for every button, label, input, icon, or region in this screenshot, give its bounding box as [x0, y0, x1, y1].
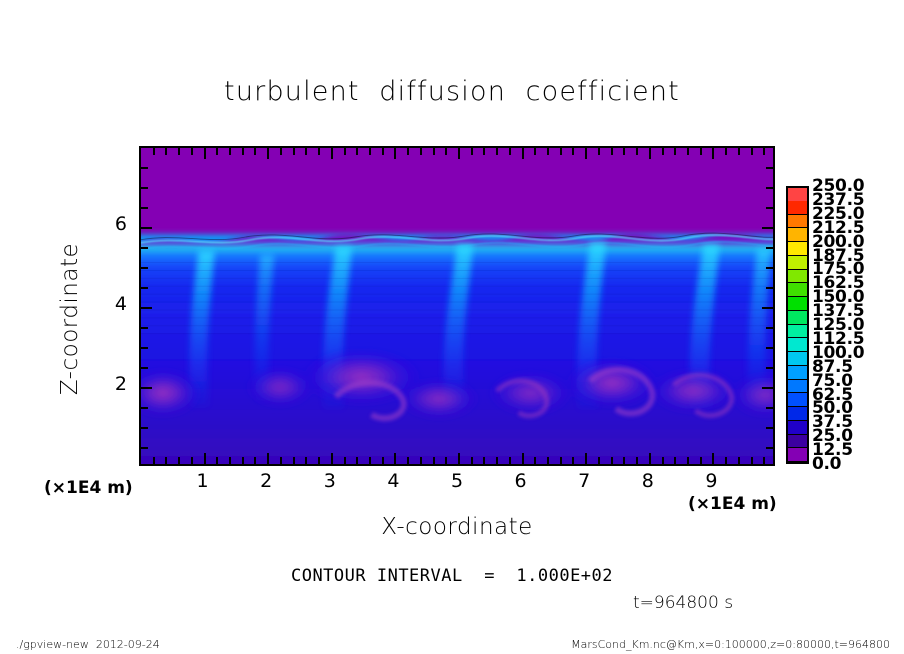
axis-tick [649, 453, 651, 464]
axis-tick [141, 307, 152, 309]
axis-tick [141, 227, 152, 229]
colorbar-band [788, 325, 807, 339]
axis-tick [394, 148, 396, 159]
axis-tick [191, 148, 193, 155]
axis-tick [766, 267, 773, 269]
axis-tick [433, 148, 435, 155]
axis-tick [534, 148, 536, 155]
axis-tick [547, 148, 549, 155]
x-axis-tick-label: 8 [633, 470, 663, 492]
axis-tick [636, 457, 638, 464]
axis-tick [178, 148, 180, 155]
axis-tick [687, 457, 689, 464]
x-axis-tick-label: 9 [696, 470, 726, 492]
axis-tick [725, 457, 727, 464]
axis-tick [141, 207, 148, 209]
axis-tick [762, 307, 773, 309]
x-axis-tick-label: 5 [442, 470, 472, 492]
axis-tick [534, 457, 536, 464]
colorbar [786, 186, 809, 464]
axis-tick [458, 148, 460, 159]
axis-tick [216, 457, 218, 464]
axis-tick [344, 457, 346, 464]
axis-tick [254, 457, 256, 464]
axis-tick [356, 148, 358, 155]
axis-tick [141, 367, 148, 369]
x-axis-tick-label: 3 [315, 470, 345, 492]
z-axis-unit-label: (×1E4 m) [44, 478, 133, 498]
axis-tick [318, 148, 320, 155]
axis-tick [687, 148, 689, 155]
colorbar-band [788, 435, 807, 449]
axis-tick [560, 148, 562, 155]
colorbar-band [788, 242, 807, 256]
axis-tick [471, 148, 473, 155]
axis-tick [369, 148, 371, 155]
axis-tick [598, 148, 600, 155]
y-axis-tick-label: 2 [101, 373, 127, 395]
axis-tick [509, 457, 511, 464]
axis-tick [547, 457, 549, 464]
axis-tick [445, 148, 447, 155]
axis-tick [766, 327, 773, 329]
colorbar-band [788, 380, 807, 394]
axis-tick [141, 287, 148, 289]
axis-tick [738, 148, 740, 155]
axis-tick [141, 167, 148, 169]
axis-tick [700, 148, 702, 155]
axis-tick [572, 457, 574, 464]
axis-tick [766, 347, 773, 349]
axis-tick [433, 457, 435, 464]
axis-tick [141, 447, 148, 449]
axis-tick [636, 148, 638, 155]
colorbar-band [788, 448, 807, 462]
axis-tick [766, 167, 773, 169]
axis-tick [305, 457, 307, 464]
colorbar-tick-label: 250.0 [812, 178, 864, 195]
axis-tick [766, 407, 773, 409]
axis-tick [141, 187, 148, 189]
axis-tick [762, 227, 773, 229]
colorbar-band [788, 393, 807, 407]
axis-tick [229, 148, 231, 155]
axis-tick [611, 457, 613, 464]
axis-tick [178, 457, 180, 464]
axis-tick [318, 457, 320, 464]
axis-tick [623, 457, 625, 464]
axis-tick [254, 148, 256, 155]
axis-tick [216, 148, 218, 155]
axis-tick [674, 457, 676, 464]
colorbar-band [788, 215, 807, 229]
axis-tick [331, 148, 333, 159]
colorbar-band [788, 188, 807, 201]
axis-tick [407, 148, 409, 155]
axis-tick [242, 457, 244, 464]
axis-tick [763, 148, 765, 155]
axis-tick [153, 457, 155, 464]
axis-tick [394, 453, 396, 464]
footer-dataset-text: MarsCond_Km.nc@Km,x=0:100000,z=0:80000,t… [571, 638, 890, 651]
page-title: turbulent diffusion coefficient [0, 76, 904, 107]
axis-tick [204, 453, 206, 464]
axis-tick [766, 367, 773, 369]
contour-interval-caption: CONTOUR INTERVAL = 1.000E+02 [0, 566, 904, 586]
colorbar-band [788, 352, 807, 366]
y-axis-tick-label: 4 [101, 293, 127, 315]
y-axis-title: Z-coordinate [57, 209, 83, 429]
axis-tick [141, 387, 152, 389]
contour-plot-area [139, 146, 775, 466]
axis-tick [229, 457, 231, 464]
colorbar-band [788, 407, 807, 421]
axis-tick [407, 457, 409, 464]
x-axis-tick-label: 4 [378, 470, 408, 492]
axis-tick [141, 407, 148, 409]
axis-tick [766, 287, 773, 289]
axis-tick [763, 457, 765, 464]
axis-tick [293, 148, 295, 155]
axis-tick [382, 148, 384, 155]
axis-tick [483, 457, 485, 464]
axis-tick [280, 457, 282, 464]
colorbar-band [788, 297, 807, 311]
colorbar-band [788, 256, 807, 270]
axis-tick [382, 457, 384, 464]
axis-tick [762, 387, 773, 389]
axis-tick [141, 327, 148, 329]
axis-tick [141, 267, 148, 269]
axis-tick [267, 453, 269, 464]
axis-tick [598, 457, 600, 464]
axis-tick [649, 148, 651, 159]
axis-tick [585, 148, 587, 159]
colorbar-band [788, 201, 807, 215]
axis-tick [153, 148, 155, 155]
axis-tick [242, 148, 244, 155]
axis-tick [458, 453, 460, 464]
axis-tick [766, 427, 773, 429]
axis-tick [293, 457, 295, 464]
axis-tick [725, 148, 727, 155]
x-axis-tick-label: 2 [251, 470, 281, 492]
x-axis-tick-label: 1 [188, 470, 218, 492]
axis-tick [700, 457, 702, 464]
axis-tick [738, 457, 740, 464]
axis-tick [483, 148, 485, 155]
axis-tick [496, 148, 498, 155]
axis-tick [766, 187, 773, 189]
axis-tick [751, 148, 753, 155]
time-stamp-caption: t=964800 s [633, 593, 733, 613]
axis-tick [509, 148, 511, 155]
axis-tick [751, 457, 753, 464]
axis-tick [712, 148, 714, 159]
axis-tick [420, 457, 422, 464]
axis-tick [141, 427, 148, 429]
axis-tick [445, 457, 447, 464]
axis-tick [356, 457, 358, 464]
x-axis-unit-label: (×1E4 m) [688, 494, 777, 514]
axis-tick [191, 457, 193, 464]
axis-tick [344, 148, 346, 155]
axis-tick [496, 457, 498, 464]
x-axis-tick-label: 7 [569, 470, 599, 492]
footer-command-text: ./gpview-new 2012-09-24 [16, 638, 160, 651]
colorbar-band [788, 283, 807, 297]
colorbar-band [788, 311, 807, 325]
axis-tick [585, 453, 587, 464]
axis-tick [766, 447, 773, 449]
axis-tick [522, 148, 524, 159]
y-axis-tick-label: 6 [101, 213, 127, 235]
axis-tick [267, 148, 269, 159]
axis-tick [141, 347, 148, 349]
axis-tick [204, 148, 206, 159]
axis-tick [280, 148, 282, 155]
axis-tick [662, 148, 664, 155]
axis-tick [420, 148, 422, 155]
colorbar-band [788, 421, 807, 435]
x-axis-title: X-coordinate [139, 514, 775, 540]
colorbar-band [788, 338, 807, 352]
axis-tick [766, 247, 773, 249]
axis-tick [662, 457, 664, 464]
axis-tick [560, 457, 562, 464]
axis-tick [141, 247, 148, 249]
axis-tick [331, 453, 333, 464]
axis-tick [165, 148, 167, 155]
colorbar-band [788, 270, 807, 284]
axis-tick [165, 457, 167, 464]
axis-tick [611, 148, 613, 155]
contour-field-image [141, 148, 773, 464]
axis-tick [712, 453, 714, 464]
axis-tick [369, 457, 371, 464]
axis-tick [305, 148, 307, 155]
axis-tick [522, 453, 524, 464]
colorbar-band [788, 228, 807, 242]
axis-tick [471, 457, 473, 464]
x-axis-tick-label: 6 [506, 470, 536, 492]
axis-tick [623, 148, 625, 155]
axis-tick [572, 148, 574, 155]
colorbar-band [788, 366, 807, 380]
colorbar-label-layer: 0.012.525.037.550.062.575.087.5100.0112.… [812, 186, 882, 464]
axis-tick [674, 148, 676, 155]
axis-tick [766, 207, 773, 209]
